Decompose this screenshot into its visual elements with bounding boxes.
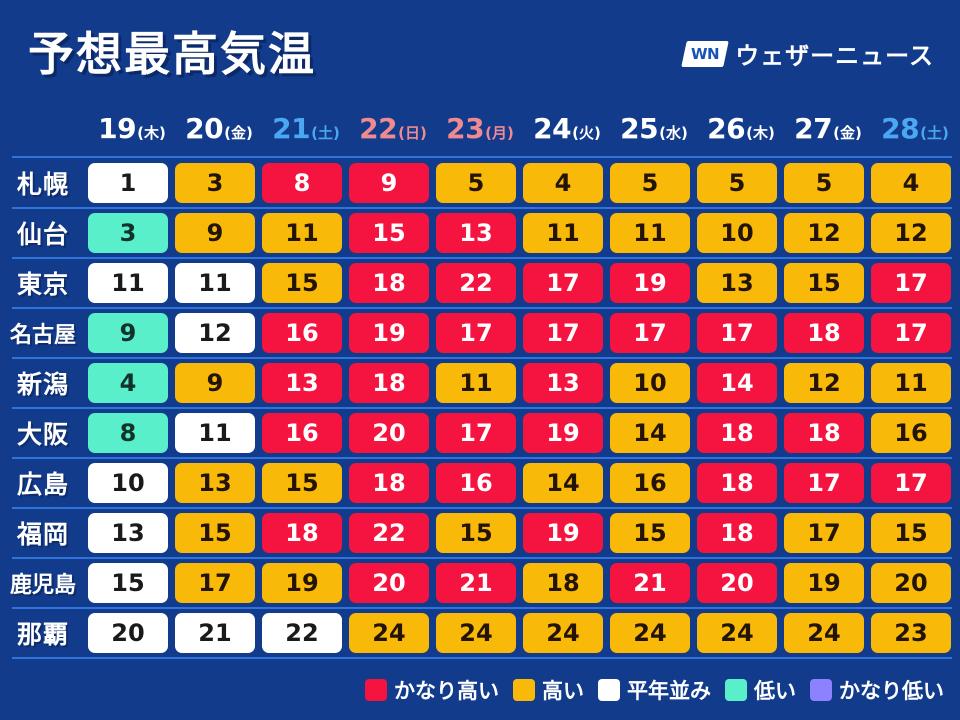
legend-label: 高い bbox=[542, 675, 584, 705]
temperature-cell[interactable]: 16 bbox=[262, 413, 342, 453]
date-day-number: 27 bbox=[794, 112, 832, 145]
date-weekday: (水) bbox=[659, 122, 688, 143]
date-day-number: 19 bbox=[98, 112, 136, 145]
date-day-number: 21 bbox=[272, 112, 310, 145]
temperature-cell[interactable]: 21 bbox=[610, 563, 690, 603]
date-header-25: 25(水) bbox=[610, 112, 698, 152]
temperature-cells: 1389545554 bbox=[88, 158, 958, 208]
forecast-page: 予想最高気温 WN ウェザーニュース 19(木)20(金)21(土)22(日)2… bbox=[0, 0, 960, 720]
temperature-cell[interactable]: 19 bbox=[523, 513, 603, 553]
temperature-cell[interactable]: 19 bbox=[784, 563, 864, 603]
table-row: 札幌1389545554 bbox=[0, 158, 960, 208]
temperature-cell[interactable]: 24 bbox=[349, 613, 429, 653]
table-row: 大阪8111620171914181816 bbox=[0, 408, 960, 458]
legend-swatch-icon bbox=[725, 679, 747, 701]
date-header-22: 22(日) bbox=[349, 112, 437, 152]
temperature-cell[interactable]: 15 bbox=[871, 513, 951, 553]
temperature-cell[interactable]: 5 bbox=[436, 163, 516, 203]
date-header-23: 23(月) bbox=[436, 112, 524, 152]
temperature-cell[interactable]: 18 bbox=[262, 513, 342, 553]
temperature-cell[interactable]: 3 bbox=[88, 213, 168, 253]
table-row: 新潟491318111310141211 bbox=[0, 358, 960, 408]
date-weekday: (木) bbox=[137, 122, 166, 143]
temperature-cell[interactable]: 23 bbox=[871, 613, 951, 653]
temperature-cell[interactable]: 24 bbox=[610, 613, 690, 653]
temperature-cell[interactable]: 5 bbox=[697, 163, 777, 203]
temperature-cell[interactable]: 13 bbox=[88, 513, 168, 553]
temperature-cell[interactable]: 20 bbox=[697, 563, 777, 603]
date-header-28: 28(土) bbox=[871, 112, 959, 152]
date-day-number: 22 bbox=[359, 112, 397, 145]
legend-item-purple: かなり低い bbox=[810, 675, 944, 705]
temperature-cell[interactable]: 15 bbox=[262, 263, 342, 303]
temperature-cell[interactable]: 14 bbox=[523, 463, 603, 503]
legend: かなり高い高い平年並み低いかなり低い bbox=[365, 670, 944, 710]
city-label: 札幌 bbox=[0, 158, 86, 208]
temperature-cell[interactable]: 5 bbox=[610, 163, 690, 203]
date-header-24: 24(火) bbox=[523, 112, 611, 152]
temperature-cell[interactable]: 11 bbox=[436, 363, 516, 403]
legend-swatch-icon bbox=[513, 679, 535, 701]
table-row: 福岡13151822151915181715 bbox=[0, 508, 960, 558]
temperature-cell[interactable]: 18 bbox=[697, 413, 777, 453]
date-day-number: 23 bbox=[446, 112, 484, 145]
temperature-cell[interactable]: 12 bbox=[784, 213, 864, 253]
city-label: 東京 bbox=[0, 258, 86, 308]
legend-label: 平年並み bbox=[627, 675, 711, 705]
temperature-cell[interactable]: 18 bbox=[349, 363, 429, 403]
page-header: 予想最高気温 WN ウェザーニュース bbox=[0, 0, 960, 100]
temperature-cell[interactable]: 18 bbox=[784, 313, 864, 353]
temperature-cell[interactable]: 11 bbox=[523, 213, 603, 253]
temperature-cell[interactable]: 20 bbox=[349, 563, 429, 603]
legend-label: 低い bbox=[754, 675, 796, 705]
temperature-cell[interactable]: 11 bbox=[175, 413, 255, 453]
temperature-cell[interactable]: 15 bbox=[88, 563, 168, 603]
temperature-cell[interactable]: 22 bbox=[262, 613, 342, 653]
temperature-cell[interactable]: 5 bbox=[784, 163, 864, 203]
temperature-cell[interactable]: 1 bbox=[88, 163, 168, 203]
temperature-cell[interactable]: 8 bbox=[88, 413, 168, 453]
date-weekday: (土) bbox=[311, 122, 340, 143]
date-day-number: 25 bbox=[620, 112, 658, 145]
temperature-cell[interactable]: 21 bbox=[436, 563, 516, 603]
wn-logo-text: WN bbox=[691, 45, 719, 63]
city-label: 福岡 bbox=[0, 508, 86, 558]
temperature-cell[interactable]: 15 bbox=[349, 213, 429, 253]
date-header-row: 19(木)20(金)21(土)22(日)23(月)24(火)25(水)26(木)… bbox=[0, 112, 960, 152]
temperature-cell[interactable]: 17 bbox=[871, 313, 951, 353]
temperature-cell[interactable]: 4 bbox=[871, 163, 951, 203]
legend-item-red: かなり高い bbox=[365, 675, 499, 705]
table-row: 那覇20212224242424242423 bbox=[0, 608, 960, 658]
legend-item-cyan: 低い bbox=[725, 675, 796, 705]
table-row: 広島10131518161416181717 bbox=[0, 458, 960, 508]
temperature-cell[interactable]: 17 bbox=[871, 263, 951, 303]
temperature-cell[interactable]: 11 bbox=[610, 213, 690, 253]
brand-logo: WN ウェザーニュース bbox=[684, 36, 934, 71]
legend-label: かなり低い bbox=[839, 675, 944, 705]
date-day-number: 20 bbox=[185, 112, 223, 145]
temperature-cell[interactable]: 18 bbox=[697, 463, 777, 503]
date-weekday: (金) bbox=[224, 122, 253, 143]
temperature-cell[interactable]: 10 bbox=[610, 363, 690, 403]
page-title: 予想最高気温 bbox=[28, 18, 316, 84]
date-header-19: 19(木) bbox=[88, 112, 176, 152]
temperature-cell[interactable]: 24 bbox=[523, 613, 603, 653]
temperature-cells: 10131518161416181717 bbox=[88, 458, 958, 508]
city-label: 鹿児島 bbox=[0, 558, 86, 608]
date-day-number: 24 bbox=[533, 112, 571, 145]
date-header-20: 20(金) bbox=[175, 112, 263, 152]
table-row: 東京11111518221719131517 bbox=[0, 258, 960, 308]
temperature-cell[interactable]: 17 bbox=[610, 313, 690, 353]
temperature-cell[interactable]: 3 bbox=[175, 163, 255, 203]
brand-name: ウェザーニュース bbox=[735, 36, 934, 71]
temperature-cell[interactable]: 13 bbox=[436, 213, 516, 253]
temperature-cell[interactable]: 14 bbox=[610, 413, 690, 453]
temperature-cell[interactable]: 11 bbox=[262, 213, 342, 253]
city-label: 名古屋 bbox=[0, 308, 86, 358]
temperature-cell[interactable]: 17 bbox=[784, 513, 864, 553]
city-label: 大阪 bbox=[0, 408, 86, 458]
date-weekday: (金) bbox=[833, 122, 862, 143]
row-separator bbox=[12, 657, 952, 659]
temperature-cells: 8111620171914181816 bbox=[88, 408, 958, 458]
temperature-cell[interactable]: 16 bbox=[262, 313, 342, 353]
temperature-cell[interactable]: 24 bbox=[784, 613, 864, 653]
temperature-cell[interactable]: 22 bbox=[436, 263, 516, 303]
date-weekday: (月) bbox=[485, 122, 514, 143]
temperature-cell[interactable]: 15 bbox=[175, 513, 255, 553]
temperature-cell[interactable]: 24 bbox=[697, 613, 777, 653]
temperature-cell[interactable]: 12 bbox=[871, 213, 951, 253]
temperature-cell[interactable]: 15 bbox=[784, 263, 864, 303]
temperature-cell[interactable]: 4 bbox=[523, 163, 603, 203]
temperature-cell[interactable]: 24 bbox=[436, 613, 516, 653]
temperature-cell[interactable]: 17 bbox=[697, 313, 777, 353]
date-weekday: (木) bbox=[746, 122, 775, 143]
temperature-cell[interactable]: 17 bbox=[175, 563, 255, 603]
temperature-cell[interactable]: 20 bbox=[88, 613, 168, 653]
temperature-cells: 491318111310141211 bbox=[88, 358, 958, 408]
temperature-cells: 11111518221719131517 bbox=[88, 258, 958, 308]
table-row: 鹿児島15171920211821201920 bbox=[0, 558, 960, 608]
temperature-cells: 13151822151915181715 bbox=[88, 508, 958, 558]
legend-item-orange: 高い bbox=[513, 675, 584, 705]
table-row: 名古屋9121619171717171817 bbox=[0, 308, 960, 358]
temperature-cell[interactable]: 19 bbox=[262, 563, 342, 603]
legend-swatch-icon bbox=[365, 679, 387, 701]
temperature-cell[interactable]: 13 bbox=[697, 263, 777, 303]
row-separator bbox=[12, 156, 952, 158]
temperature-cell[interactable]: 13 bbox=[262, 363, 342, 403]
temperature-cell[interactable]: 9 bbox=[88, 313, 168, 353]
temperature-cell[interactable]: 19 bbox=[610, 263, 690, 303]
temperature-cell[interactable]: 11 bbox=[871, 363, 951, 403]
temperature-cell[interactable]: 13 bbox=[175, 463, 255, 503]
temperature-cell[interactable]: 11 bbox=[88, 263, 168, 303]
temperature-cells: 15171920211821201920 bbox=[88, 558, 958, 608]
table-row: 仙台391115131111101212 bbox=[0, 208, 960, 258]
temperature-cell[interactable]: 16 bbox=[436, 463, 516, 503]
temperature-cell[interactable]: 15 bbox=[262, 463, 342, 503]
temperature-cell[interactable]: 18 bbox=[784, 413, 864, 453]
temperature-cell[interactable]: 20 bbox=[871, 563, 951, 603]
temperature-cell[interactable]: 10 bbox=[88, 463, 168, 503]
temperature-cell[interactable]: 19 bbox=[349, 313, 429, 353]
temperature-cell[interactable]: 9 bbox=[349, 163, 429, 203]
wn-logo-icon: WN bbox=[681, 41, 729, 67]
temperature-cell[interactable]: 17 bbox=[784, 463, 864, 503]
temperature-cell[interactable]: 12 bbox=[175, 313, 255, 353]
date-day-number: 28 bbox=[881, 112, 919, 145]
temperature-cell[interactable]: 4 bbox=[88, 363, 168, 403]
temperature-cell[interactable]: 17 bbox=[436, 413, 516, 453]
temperature-cell[interactable]: 11 bbox=[175, 263, 255, 303]
temperature-cell[interactable]: 13 bbox=[523, 363, 603, 403]
temperature-cell[interactable]: 9 bbox=[175, 363, 255, 403]
temperature-cell[interactable]: 18 bbox=[349, 263, 429, 303]
temperature-cells: 391115131111101212 bbox=[88, 208, 958, 258]
temperature-cell[interactable]: 10 bbox=[697, 213, 777, 253]
legend-swatch-icon bbox=[810, 679, 832, 701]
date-header-27: 27(金) bbox=[784, 112, 872, 152]
temperature-cells: 20212224242424242423 bbox=[88, 608, 958, 658]
temperature-cell[interactable]: 8 bbox=[262, 163, 342, 203]
date-header-21: 21(土) bbox=[262, 112, 350, 152]
temperature-cell[interactable]: 17 bbox=[436, 313, 516, 353]
date-header-26: 26(木) bbox=[697, 112, 785, 152]
temperature-cell[interactable]: 12 bbox=[784, 363, 864, 403]
temperature-cell[interactable]: 19 bbox=[523, 413, 603, 453]
city-label: 広島 bbox=[0, 458, 86, 508]
legend-swatch-icon bbox=[598, 679, 620, 701]
temperature-cell[interactable]: 15 bbox=[610, 513, 690, 553]
city-label: 仙台 bbox=[0, 208, 86, 258]
date-day-number: 26 bbox=[707, 112, 745, 145]
legend-label: かなり高い bbox=[394, 675, 499, 705]
city-label: 新潟 bbox=[0, 358, 86, 408]
legend-item-white: 平年並み bbox=[598, 675, 711, 705]
temperature-cell[interactable]: 14 bbox=[697, 363, 777, 403]
temperature-cell[interactable]: 22 bbox=[349, 513, 429, 553]
temperature-cell[interactable]: 9 bbox=[175, 213, 255, 253]
city-label: 那覇 bbox=[0, 608, 86, 658]
temperature-cell[interactable]: 18 bbox=[697, 513, 777, 553]
date-weekday: (日) bbox=[398, 122, 427, 143]
temperature-cell[interactable]: 17 bbox=[523, 263, 603, 303]
temperature-cell[interactable]: 15 bbox=[436, 513, 516, 553]
temperature-cell[interactable]: 20 bbox=[349, 413, 429, 453]
temperature-cell[interactable]: 16 bbox=[871, 413, 951, 453]
date-weekday: (火) bbox=[572, 122, 601, 143]
temperature-cells: 9121619171717171817 bbox=[88, 308, 958, 358]
temperature-cell[interactable]: 17 bbox=[523, 313, 603, 353]
temperature-cell[interactable]: 18 bbox=[349, 463, 429, 503]
temperature-cell[interactable]: 17 bbox=[871, 463, 951, 503]
temperature-cell[interactable]: 18 bbox=[523, 563, 603, 603]
date-weekday: (土) bbox=[920, 122, 949, 143]
temperature-cell[interactable]: 21 bbox=[175, 613, 255, 653]
temperature-cell[interactable]: 16 bbox=[610, 463, 690, 503]
